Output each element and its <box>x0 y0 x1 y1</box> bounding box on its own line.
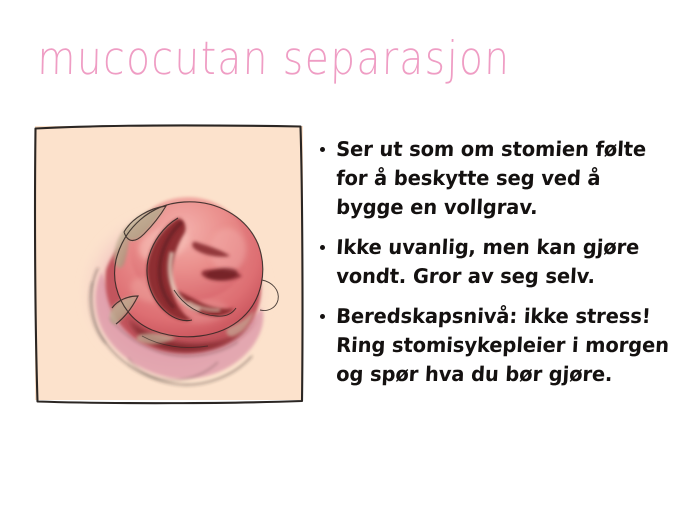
slide-root: { "slide": { "title": "mucocutan separas… <box>0 0 676 507</box>
bullet-line: for å beskytte seg ved å <box>335 163 670 193</box>
bullet-line: Ikke uvanlig, men kan gjøre <box>335 232 670 262</box>
bullet-dot-icon <box>320 147 325 152</box>
stoma-illustration <box>32 122 306 406</box>
list-item: Ser ut som om stomien følte for å beskyt… <box>318 134 670 221</box>
list-item: Beredskapsnivå: ikke stress! Ring stomis… <box>318 301 670 388</box>
bullet-line: Beredskapsnivå: ikke stress! <box>335 301 670 331</box>
bullet-list: Ser ut som om stomien følte for å beskyt… <box>318 134 670 399</box>
bullet-dot-icon <box>320 245 325 250</box>
bullet-line: vondt. Gror av seg selv. <box>335 261 670 291</box>
bullet-dot-icon <box>320 314 325 319</box>
bullet-line: Ser ut som om stomien følte <box>335 134 670 164</box>
bullet-line: Ring stomisykepleier i morgen <box>335 330 670 360</box>
list-item: Ikke uvanlig, men kan gjøre vondt. Gror … <box>318 232 670 290</box>
bullet-line: og spør hva du bør gjøre. <box>335 359 670 389</box>
bullet-line: bygge en vollgrav. <box>335 192 670 222</box>
page-title: mucocutan separasjon <box>37 36 511 82</box>
illustration-frame <box>32 122 306 406</box>
